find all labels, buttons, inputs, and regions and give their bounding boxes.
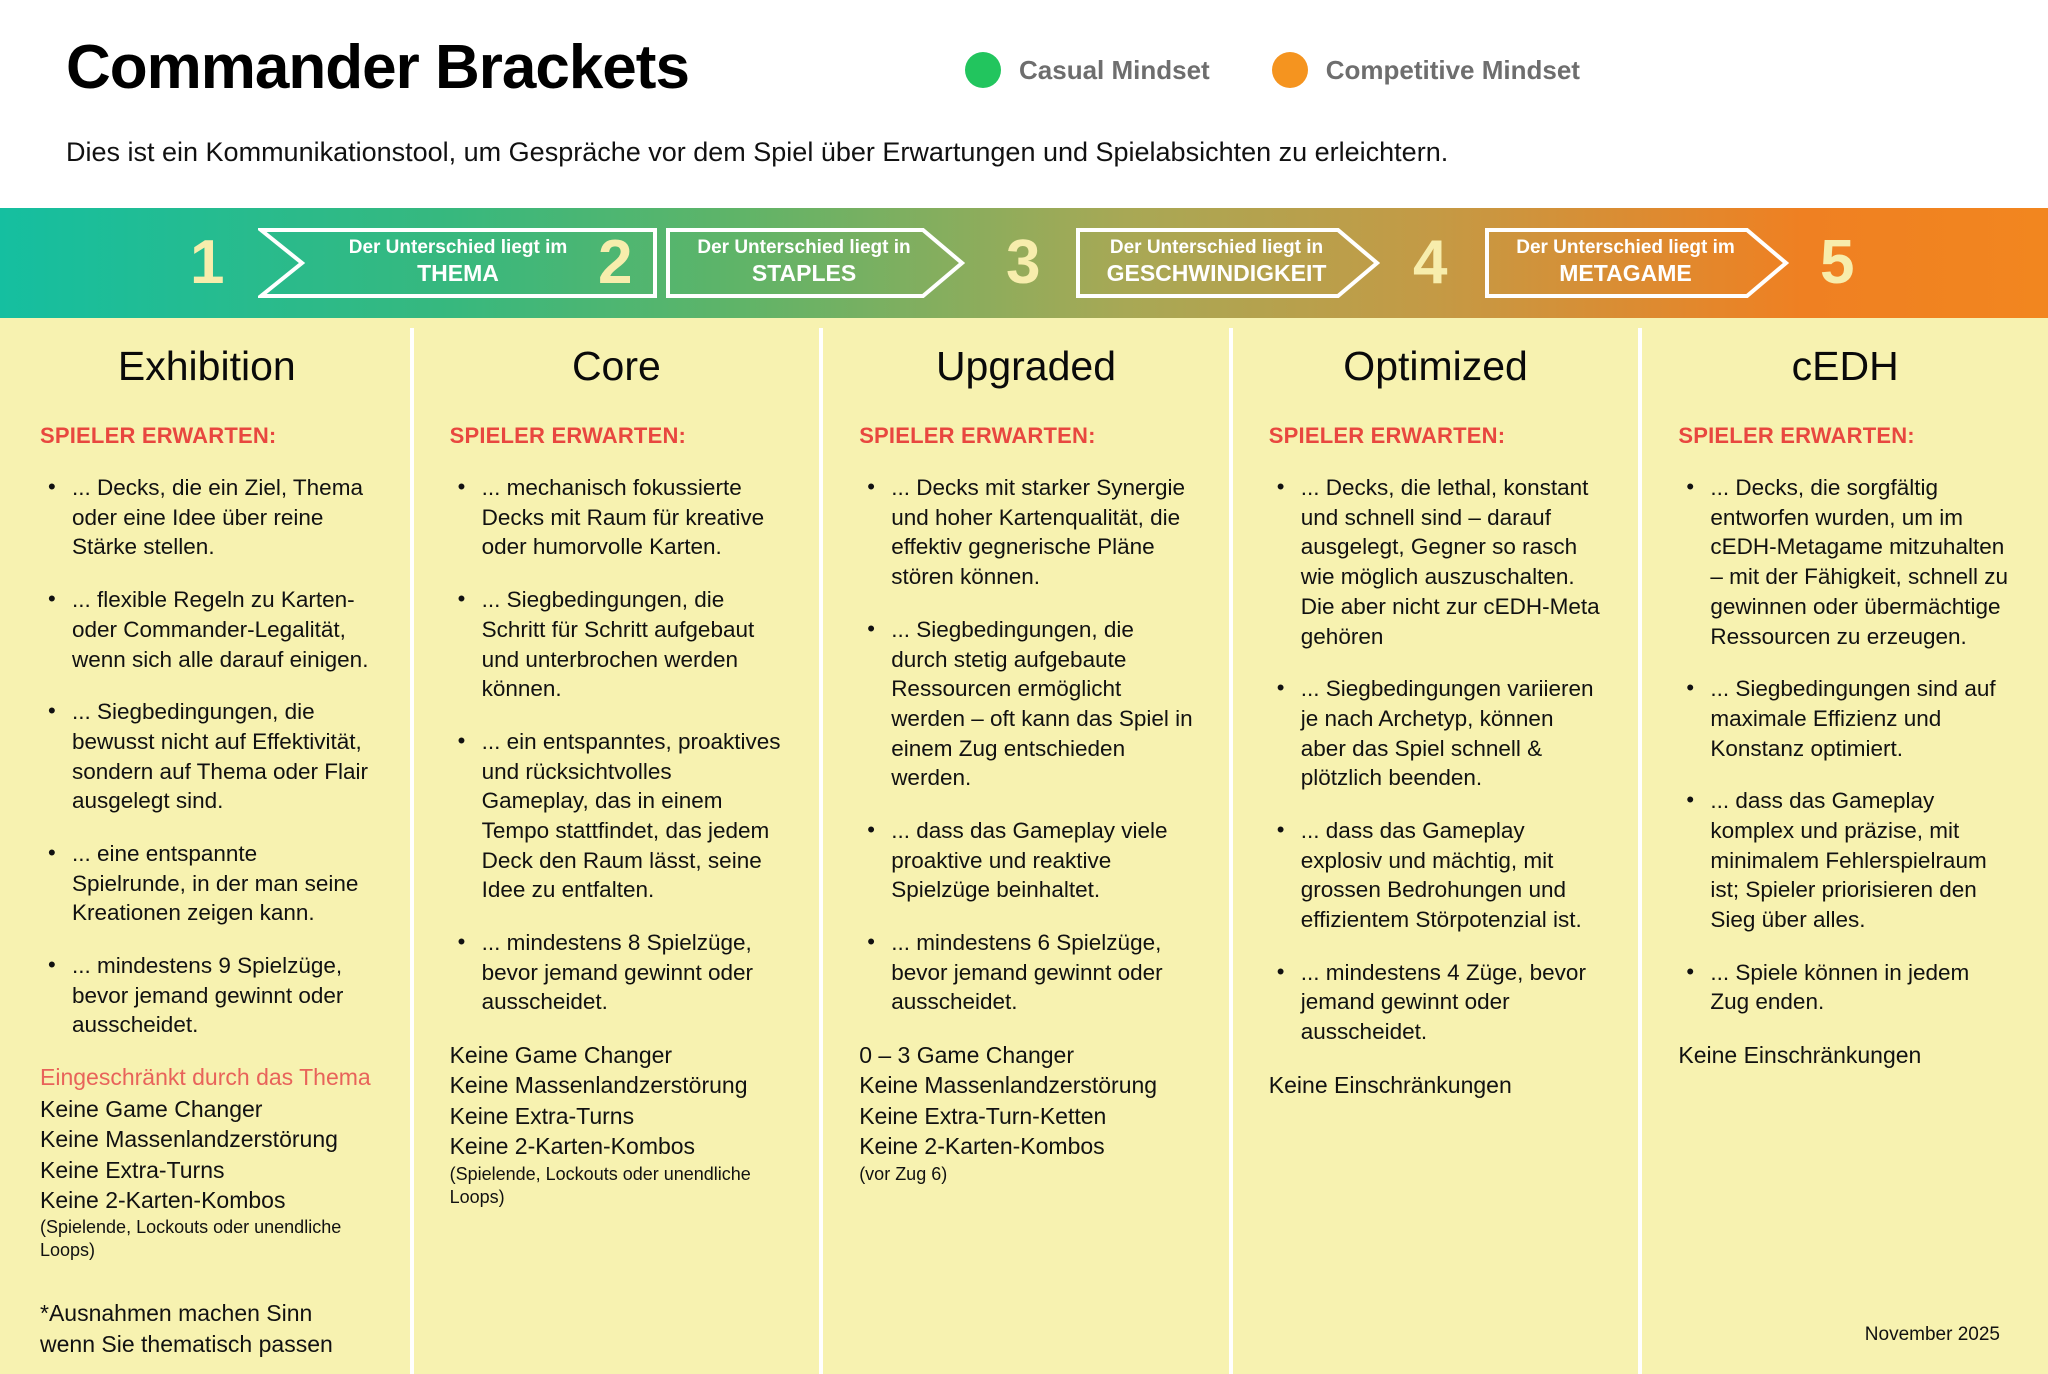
column-optimized: Optimized SPIELER ERWARTEN: ... Decks, d… [1229,318,1639,1374]
expect-heading-optimized: SPIELER ERWARTEN: [1269,423,1603,449]
bracket-number-5: 5 [1820,232,1854,294]
restrictions-optimized: Keine Einschränkungen [1269,1070,1603,1100]
casual-circle-icon [965,52,1001,88]
restrict-line: Keine Extra-Turn-Ketten [859,1101,1193,1131]
restrict-line: 0 – 3 Game Changer [859,1040,1193,1070]
column-title-upgraded: Upgraded [859,344,1193,389]
column-title-cedh: cEDH [1678,344,2012,389]
restrict-line: Keine Extra-Turns [450,1101,784,1131]
legend: Casual Mindset Competitive Mindset [965,52,1580,88]
column-core: Core SPIELER ERWARTEN: ... mechanisch fo… [410,318,820,1374]
expect-list-optimized: ... Decks, die lethal, konstant und schn… [1271,473,1603,1047]
banner-main-geschwindigkeit: GESCHWINDIGKEIT [1107,260,1327,286]
banner-main-staples: STAPLES [752,260,856,286]
restrict-line: Keine Game Changer [450,1040,784,1070]
list-item: ... Decks, die sorgfältig entworfen wurd… [1680,473,2012,651]
expect-list-upgraded: ... Decks mit starker Synergie und hoher… [861,473,1193,1017]
banner-main-metagame: METAGAME [1559,260,1691,286]
restrictions-core: Keine Game Changer Keine Massenlandzerst… [450,1040,784,1209]
column-title-core: Core [450,344,784,389]
column-exhibition: Exhibition SPIELER ERWARTEN: ... Decks, … [0,318,410,1374]
banner-main-thema: THEMA [417,260,499,286]
list-item: ... flexible Regeln zu Karten- oder Comm… [42,585,374,674]
legend-label-casual: Casual Mindset [1019,55,1210,86]
brackets-columns: Exhibition SPIELER ERWARTEN: ... Decks, … [0,318,2048,1374]
page-title: Commander Brackets [66,32,689,103]
header: Commander Brackets Casual Mindset Compet… [0,0,2048,208]
list-item: ... dass das Gameplay explosiv und mächt… [1271,816,1603,935]
restrict-line: Keine Game Changer [40,1094,374,1124]
list-item: ... Decks, die lethal, konstant und schn… [1271,473,1603,651]
restrictions-exhibition: Eingeschränkt durch das Thema Keine Game… [40,1063,374,1262]
expect-list-cedh: ... Decks, die sorgfältig entworfen wurd… [1680,473,2012,1017]
footnote-exhibition: *Ausnahmen machen Sinn wenn Sie thematis… [40,1298,374,1359]
legend-item-competitive: Competitive Mindset [1272,52,1580,88]
expect-list-exhibition: ... Decks, die ein Ziel, Thema oder eine… [42,473,374,1040]
restrict-line: Keine 2-Karten-Kombos [40,1185,374,1215]
expect-heading-core: SPIELER ERWARTEN: [450,423,784,449]
legend-label-competitive: Competitive Mindset [1326,55,1580,86]
column-cedh: cEDH SPIELER ERWARTEN: ... Decks, die so… [1638,318,2048,1374]
list-item: ... mindestens 6 Spielzüge, bevor jemand… [861,928,1193,1017]
list-item: ... eine entspannte Spielrunde, in der m… [42,839,374,928]
list-item: ... Siegbedingungen, die Schritt für Sch… [452,585,784,704]
restrict-line: Keine Massenlandzerstörung [450,1070,784,1100]
list-item: ... mechanisch fokussierte Decks mit Rau… [452,473,784,562]
list-item: ... Spiele können in jedem Zug enden. [1680,958,2012,1017]
column-upgraded: Upgraded SPIELER ERWARTEN: ... Decks mit… [819,318,1229,1374]
bracket-number-4: 4 [1413,232,1447,294]
banner-top-metagame: Der Unterschied liegt im [1516,238,1735,258]
list-item: ... ein entspanntes, proaktives und rück… [452,727,784,905]
list-item: ... Decks, die ein Ziel, Thema oder eine… [42,473,374,562]
restrict-heading: Eingeschränkt durch das Thema [40,1063,374,1093]
list-item: ... Decks mit starker Synergie und hoher… [861,473,1193,592]
expect-heading-exhibition: SPIELER ERWARTEN: [40,423,374,449]
restrict-line: Keine 2-Karten-Kombos [859,1131,1193,1161]
bracket-number-2: 2 [598,232,632,294]
expect-heading-upgraded: SPIELER ERWARTEN: [859,423,1193,449]
banner-top-geschwindigkeit: Der Unterschied liegt in [1110,238,1323,258]
restrict-line: Keine Massenlandzerstörung [859,1070,1193,1100]
list-item: ... mindestens 9 Spielzüge, bevor jemand… [42,951,374,1040]
banner-top-thema: Der Unterschied liegt im [349,238,568,258]
restrict-note: (Spielende, Lockouts oder unendliche Loo… [450,1163,784,1209]
page-subtitle: Dies ist ein Kommunikationstool, um Gesp… [66,137,1448,168]
list-item: ... mindestens 4 Züge, bevor jemand gewi… [1271,958,1603,1047]
banner-top-staples: Der Unterschied liegt in [697,238,910,258]
restrict-note: (vor Zug 6) [859,1163,1193,1186]
list-item: ... dass das Gameplay komplex und präzis… [1680,786,2012,934]
infographic-page: Commander Brackets Casual Mindset Compet… [0,0,2048,1374]
restrict-line: Keine 2-Karten-Kombos [450,1131,784,1161]
expect-heading-cedh: SPIELER ERWARTEN: [1678,423,2012,449]
bracket-scale-strip: 1 Der Unterschied liegt im THEMA 2 Der U… [0,208,2048,318]
list-item: ... Siegbedingungen variieren je nach Ar… [1271,674,1603,793]
restrict-line: Keine Extra-Turns [40,1155,374,1185]
list-item: ... Siegbedingungen sind auf maximale Ef… [1680,674,2012,763]
restrict-line: Keine Einschränkungen [1269,1070,1603,1100]
restrict-note: (Spielende, Lockouts oder unendliche Loo… [40,1216,374,1262]
restrict-line: Keine Einschränkungen [1678,1040,2012,1070]
restrict-line: Keine Massenlandzerstörung [40,1124,374,1154]
column-title-exhibition: Exhibition [40,344,374,389]
difference-banner-metagame: Der Unterschied liegt im METAGAME [1484,227,1789,299]
restrictions-upgraded: 0 – 3 Game Changer Keine Massenlandzerst… [859,1040,1193,1185]
legend-item-casual: Casual Mindset [965,52,1210,88]
bracket-number-1: 1 [190,232,224,294]
expect-list-core: ... mechanisch fokussierte Decks mit Rau… [452,473,784,1017]
restrictions-cedh: Keine Einschränkungen [1678,1040,2012,1070]
difference-banner-staples: Der Unterschied liegt in STAPLES [665,227,965,299]
bracket-number-3: 3 [1006,232,1040,294]
difference-banner-geschwindigkeit: Der Unterschied liegt in GESCHWINDIGKEIT [1075,227,1380,299]
list-item: ... Siegbedingungen, die durch stetig au… [861,615,1193,793]
list-item: ... Siegbedingungen, die bewusst nicht a… [42,697,374,816]
competitive-circle-icon [1272,52,1308,88]
list-item: ... dass das Gameplay viele proaktive un… [861,816,1193,905]
list-item: ... mindestens 8 Spielzüge, bevor jemand… [452,928,784,1017]
column-title-optimized: Optimized [1269,344,1603,389]
date-stamp: November 2025 [1865,1324,2000,1346]
